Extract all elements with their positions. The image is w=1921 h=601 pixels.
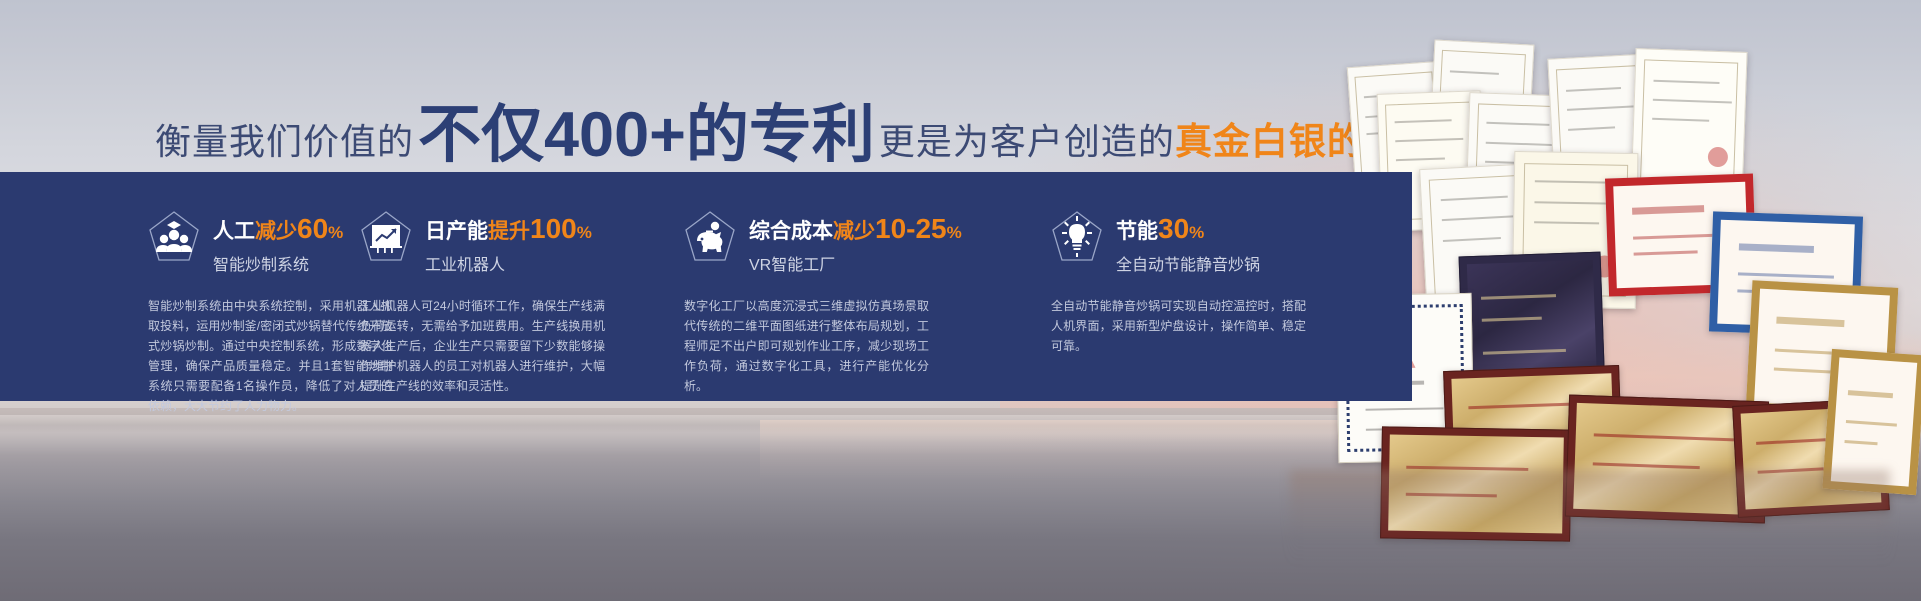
lightbulb-pentagon-icon	[1051, 210, 1103, 264]
headline-emphasis: 不仅400+的专利	[418, 84, 875, 175]
feature-title-lead: 综合成本	[749, 220, 833, 243]
headline-middle: 更是为客户创造的	[879, 113, 1175, 165]
feature-title-highlight: 减少	[255, 220, 297, 243]
features-list: 人工减少60% 智能炒制系统 智能炒制系统由中央系统控制，采用机器人抓取投料，运…	[0, 172, 1412, 401]
feature-item-cost-reduction: 综合成本减少10-25% VR智能工厂 数字化工厂以高度沉浸式三维虚拟仿真场景取…	[670, 172, 1025, 401]
feature-title-unit: %	[1189, 223, 1204, 242]
feature-title-number: 30	[1158, 213, 1189, 244]
features-panel: 人工减少60% 智能炒制系统 智能炒制系统由中央系统控制，采用机器人抓取投料，运…	[0, 172, 1412, 401]
certificate-stack-reflection	[1290, 470, 1890, 565]
feature-title-unit: %	[577, 223, 592, 242]
feature-subtitle: VR智能工厂	[749, 251, 962, 275]
feature-title-number: 60	[297, 213, 328, 244]
feature-title: 综合成本减少10-25%	[749, 220, 962, 243]
chart-board-pentagon-icon	[360, 210, 412, 264]
feature-title-highlight: 提升	[488, 220, 530, 243]
feature-title-number: 100	[530, 213, 577, 244]
feature-title-number: 10-25	[875, 213, 947, 244]
feature-subtitle: 工业机器人	[425, 251, 592, 275]
feature-subtitle: 全自动节能静音炒锅	[1116, 251, 1260, 275]
feature-title-lead: 日产能	[425, 220, 488, 243]
feature-subtitle: 智能炒制系统	[213, 251, 343, 275]
feature-title-unit: %	[947, 223, 962, 242]
headline-lead: 衡量我们价值的	[155, 113, 414, 165]
feature-body-text: 工业机器人可24小时循环工作，确保生产线满负荷运转，无需给予加班费用。生产线换用…	[360, 296, 605, 396]
patent-achievement-banner: 衡量我们价值的 不仅400+的专利 更是为客户创造的 真金白银的效益	[0, 0, 1921, 601]
feature-item-labor-reduction: 人工减少60% 智能炒制系统 智能炒制系统由中央系统控制，采用机器人抓取投料，运…	[0, 172, 340, 401]
headline: 衡量我们价值的 不仅400+的专利 更是为客户创造的 真金白银的效益	[155, 82, 1441, 138]
feature-body-text: 数字化工厂以高度沉浸式三维虚拟仿真场景取代传统的二维平面图纸进行整体布局规划，工…	[684, 296, 929, 396]
feature-title: 日产能提升100%	[425, 220, 592, 243]
piggy-bank-pentagon-icon	[684, 210, 736, 264]
people-group-pentagon-icon	[148, 210, 200, 264]
feature-item-output-increase: 日产能提升100% 工业机器人 工业机器人可24小时循环工作，确保生产线满负荷运…	[340, 172, 670, 401]
feature-title: 人工减少60%	[213, 220, 343, 243]
feature-body-text: 全自动节能静音炒锅可实现自动控温控时，搭配人机界面，采用新型炉盘设计，操作简单、…	[1051, 296, 1306, 356]
feature-title-lead: 节能	[1116, 220, 1158, 243]
feature-title-lead: 人工	[213, 220, 255, 243]
feature-title-highlight: 减少	[833, 220, 875, 243]
feature-title: 节能30%	[1116, 220, 1204, 243]
feature-item-energy-saving: 节能30% 全自动节能静音炒锅 全自动节能静音炒锅可实现自动控温控时，搭配人机界…	[1025, 172, 1412, 401]
